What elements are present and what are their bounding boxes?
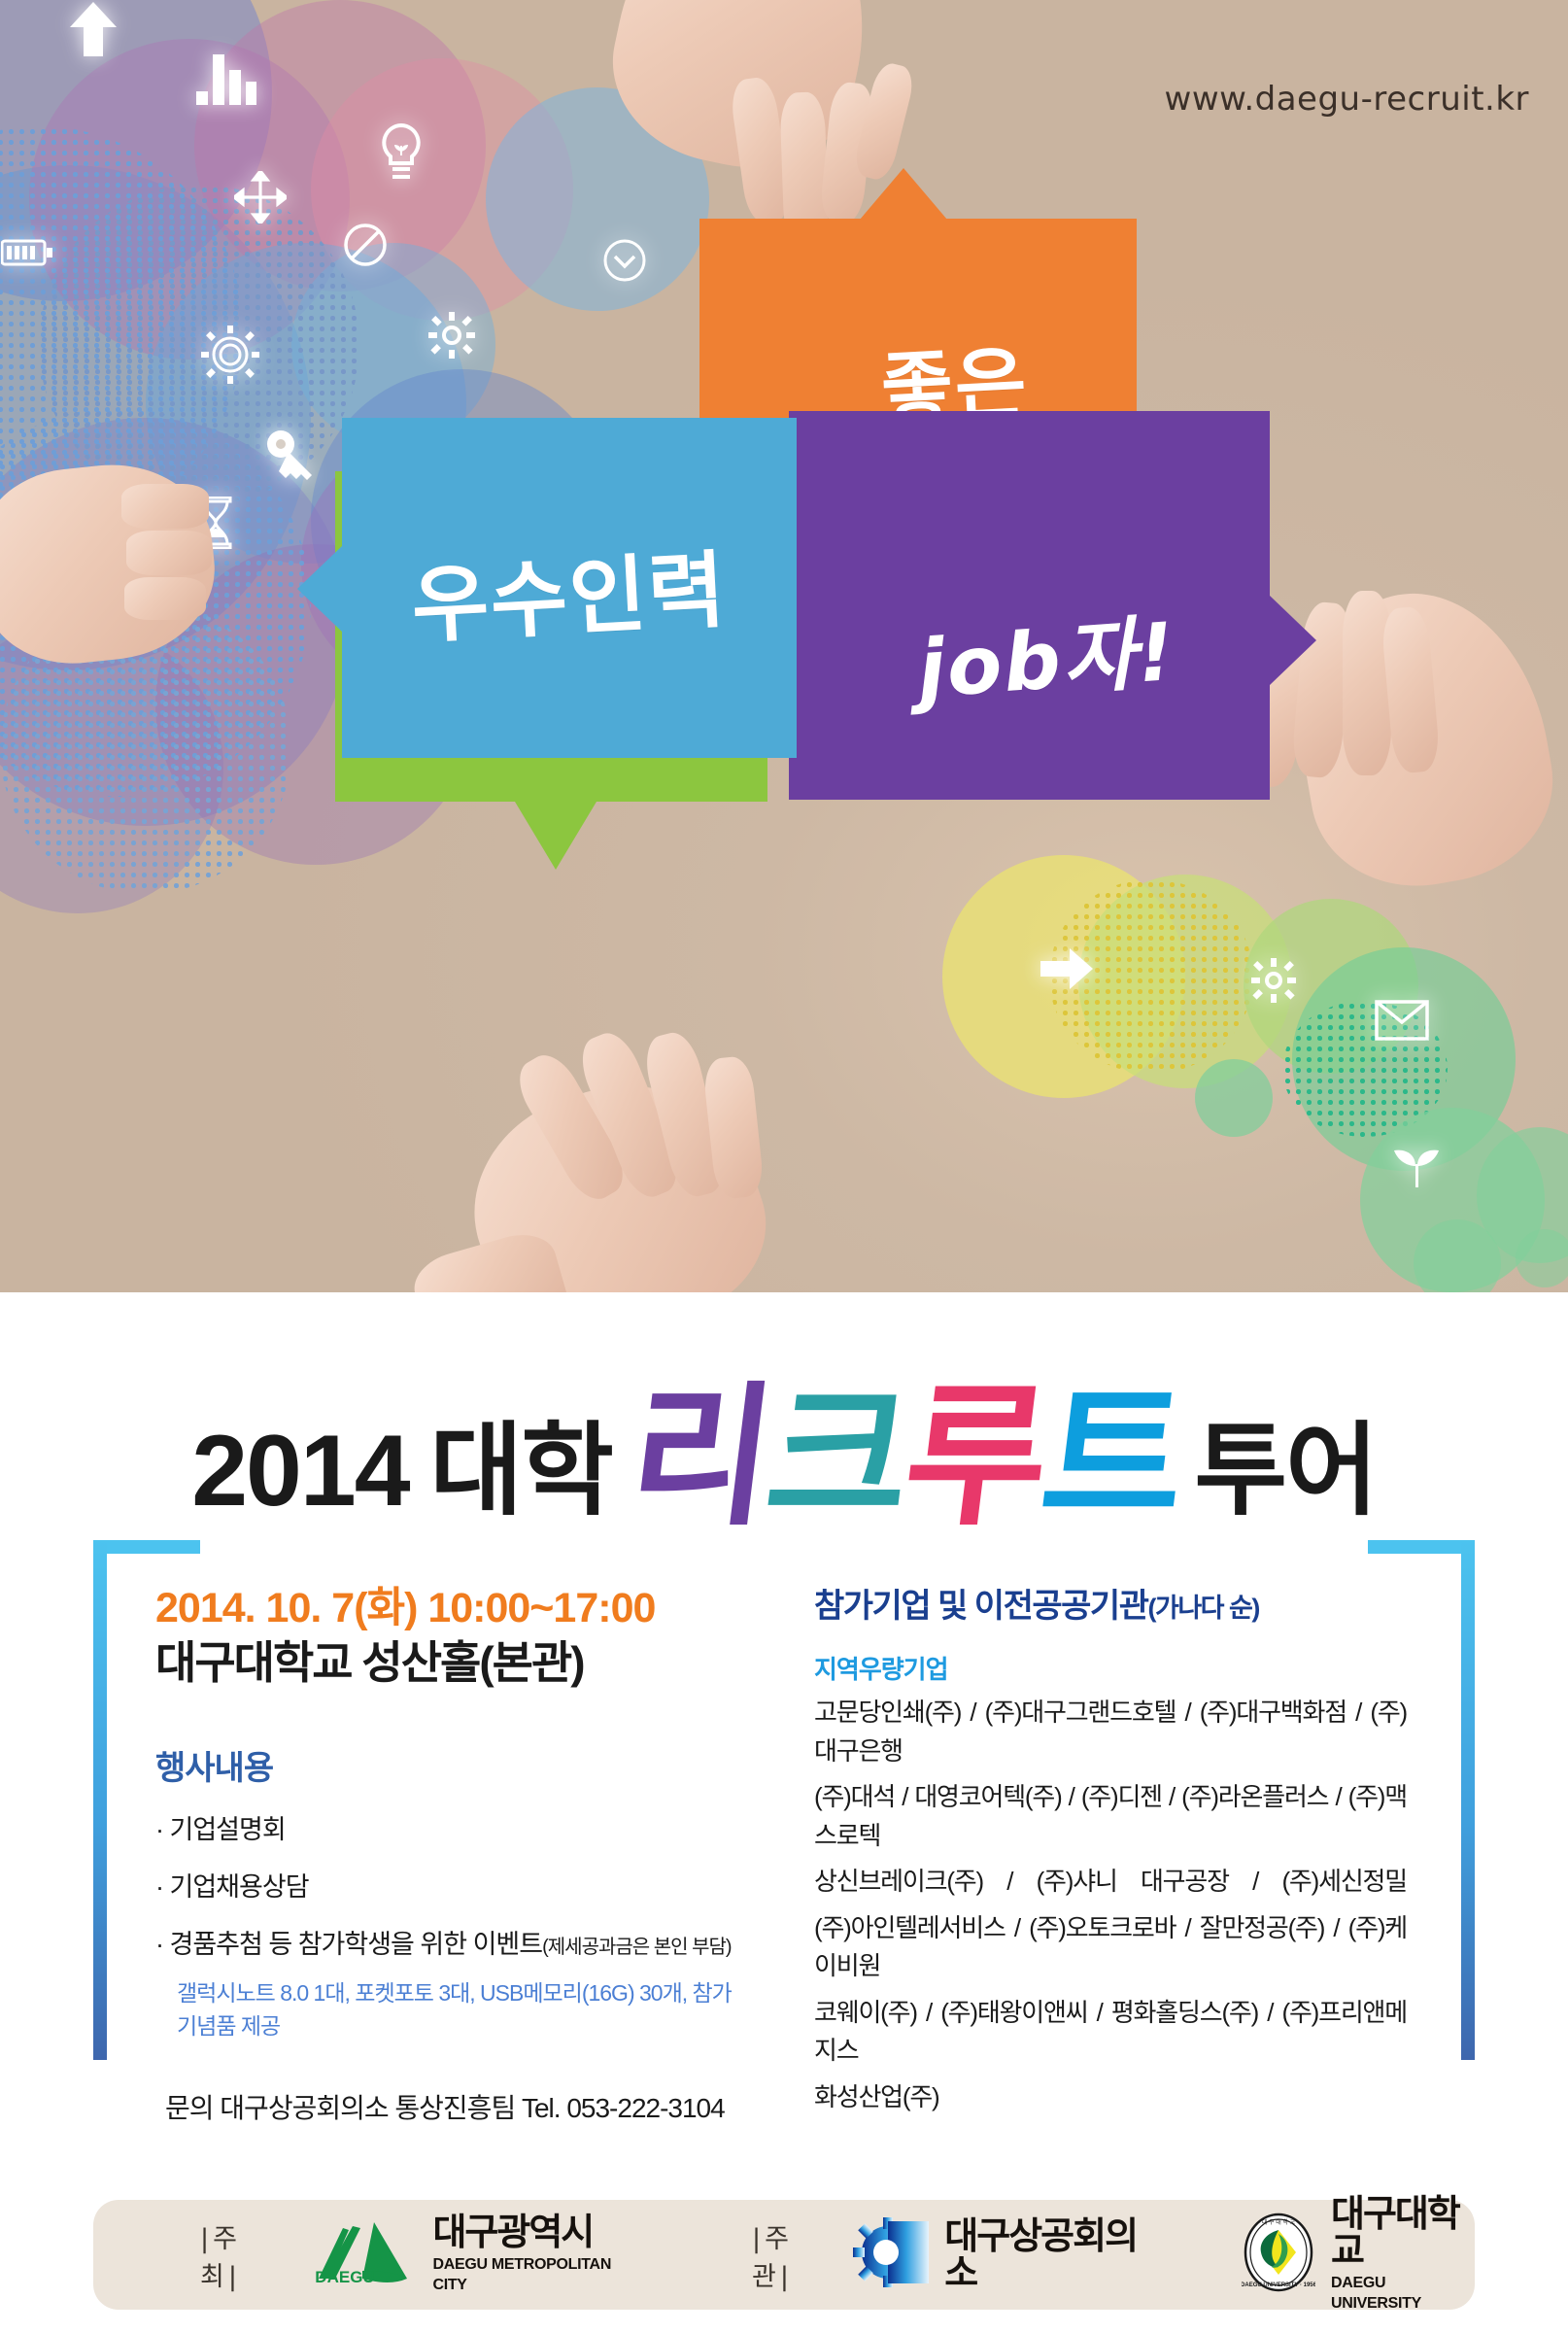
main-content: 2014 대학 리 크 루 트 투어 2014. 10. 7(화) 10:00~… [0,1292,1568,2333]
daegu-university-seal-icon: 대 구 대 학 교 DAEGU UNIVERSITY · 1956 [1242,2213,1315,2297]
local-companies-heading: 지역우량기업 [814,1650,1407,1686]
gear-icon [200,325,260,385]
hand-image [418,1011,826,1292]
speech-bubble-blue: 우수인력 [342,418,797,758]
companies-heading: 참가기업 및 이전공공기관(가나다 순) [814,1579,1407,1627]
svg-text:DAEGU: DAEGU [316,2268,375,2286]
info-section: 2014. 10. 7(화) 10:00~17:00 대구대학교 성산홀(본관)… [0,1540,1568,2084]
lightbulb-icon [377,121,426,188]
companies-heading-main: 참가기업 및 이전공공기관 [814,1588,1147,1625]
event-item-text: · 기업채용상담 [155,1872,309,1902]
event-item: · 기업설명회 [155,1808,738,1846]
companies-heading-note: (가나다 순) [1147,1594,1258,1623]
university-group: 대 구 대 학 교 DAEGU UNIVERSITY · 1956 대구대학교 … [1242,2196,1475,2315]
right-arrow-icon [1040,947,1094,990]
title-suffix: 투어 [1194,1421,1376,1526]
host-group: |주최| DAEGU 대구광역시 DAEGU METROPOLITAN CITY [200,2214,628,2296]
organizer-name-kr: 대구상공회의소 [944,2218,1148,2292]
event-datetime: 2014. 10. 7(화) 10:00~17:00 [155,1585,738,1632]
leaf-icon [1389,1142,1444,1190]
company-line: 화성산업(주) [814,2078,1407,2117]
host-name: 대구광역시 DAEGU METROPOLITAN CITY [432,2214,628,2296]
bracket-right-top-bar [1368,1540,1475,1554]
title-letter-1: 리 [621,1390,774,1526]
event-item-text: · 기업설명회 [155,1815,286,1844]
no-entry-icon [342,222,389,268]
key-icon [264,428,324,486]
bubble-label-blue: 우수인력 [333,418,805,781]
chamber-of-commerce-logo-icon [853,2217,929,2292]
speech-bubble-purple: job자! [789,411,1270,800]
university-name-en: DAEGU UNIVERSITY [1331,2274,1475,2315]
university-name: 대구대학교 DAEGU UNIVERSITY [1331,2196,1475,2315]
footer-sponsors: |주최| DAEGU 대구광역시 DAEGU METROPOLITAN CITY… [93,2200,1475,2310]
svg-text:대 구 대 학 교: 대 구 대 학 교 [1262,2218,1296,2226]
event-details-column: 2014. 10. 7(화) 10:00~17:00 대구대학교 성산홀(본관)… [155,1585,738,2126]
company-line: 코웨이(주) / (주)태왕이앤씨 / 평화홀딩스(주) / (주)프리앤메지스 [814,1994,1407,2071]
gear-icon [1250,957,1297,1004]
title-letter-3: 루 [896,1390,1049,1526]
bubble-tail [297,546,342,632]
participating-companies-column: 참가기업 및 이전공공기관(가나다 순) 지역우량기업 고문당인쇄(주) / (… [814,1579,1407,2280]
event-item: · 경품추첨 등 참가학생을 위한 이벤트(제세공과금은 본인 부담) [155,1923,738,1961]
contact-info: 문의 대구상공회의소 통상진흥팀 Tel. 053-222-3104 [165,2087,738,2126]
bar-chart-icon [194,49,258,107]
company-line: 상신브레이크(주) / (주)샤니 대구공장 / (주)세신정밀 [814,1863,1407,1902]
mail-icon [1374,999,1430,1042]
organizer-group: |주관| [752,2217,1148,2293]
bracket-left-vertical-bar [93,1540,107,2060]
bubble-tail [860,168,947,220]
event-item: · 기업채용상담 [155,1866,738,1904]
event-item-text: · 경품추첨 등 참가학생을 위한 이벤트 [155,1930,542,1959]
title-letter-4: 트 [1034,1390,1187,1526]
decor-blob [1195,1059,1273,1137]
page-title: 2014 대학 리 크 루 트 투어 [0,1351,1568,1526]
decor-blob [1516,1229,1568,1287]
hand-image [0,447,253,700]
cog-icon [427,311,476,360]
host-name-en: DAEGU METROPOLITAN CITY [432,2255,628,2296]
university-name-kr: 대구대학교 [1331,2196,1475,2270]
event-venue: 대구대학교 성산홀(본관) [155,1636,738,1690]
svg-text:DAEGU UNIVERSITY · 1956: DAEGU UNIVERSITY · 1956 [1242,2282,1315,2288]
event-item-note: (제세공과금은 본인 부담) [542,1937,731,1958]
battery-icon [0,236,54,269]
prize-list: 갤럭시노트 8.0 1대, 포켓포토 3대, USB메모리(16G) 30개, … [177,1974,738,2041]
host-tag: |주최| [200,2217,273,2293]
move-arrows-icon [233,170,288,224]
company-line: 고문당인쇄(주) / (주)대구그랜드호텔 / (주)대구백화점 / (주)대구… [814,1694,1407,1770]
bracket-right-vertical-bar [1461,1540,1475,2060]
website-url: www.daegu-recruit.kr [1165,80,1529,119]
organizer-tag: |주관| [752,2217,826,2293]
title-letter-2: 크 [759,1390,912,1526]
up-arrow-icon [66,0,120,58]
daegu-city-logo-icon: DAEGU [306,2218,413,2291]
company-line: (주)아인텔레서비스 / (주)오토크로바 / 잘만정공(주) / (주)케이비… [814,1909,1407,1986]
company-line: (주)대석 / 대영코어텍(주) / (주)디젠 / (주)라온플러스 / (주… [814,1778,1407,1855]
title-year: 2014 [191,1421,408,1526]
bracket-left-top-bar [93,1540,200,1554]
host-name-kr: 대구광역시 [432,2214,628,2251]
title-univ: 대학 [430,1421,612,1526]
hero-photo-collage: 多 좋은 일자리 우수인력 job자! www.daegu-recruit.kr [0,0,1568,1292]
event-program-heading: 행사내용 [155,1741,738,1789]
bubble-label-purple: job자! [794,451,1301,873]
